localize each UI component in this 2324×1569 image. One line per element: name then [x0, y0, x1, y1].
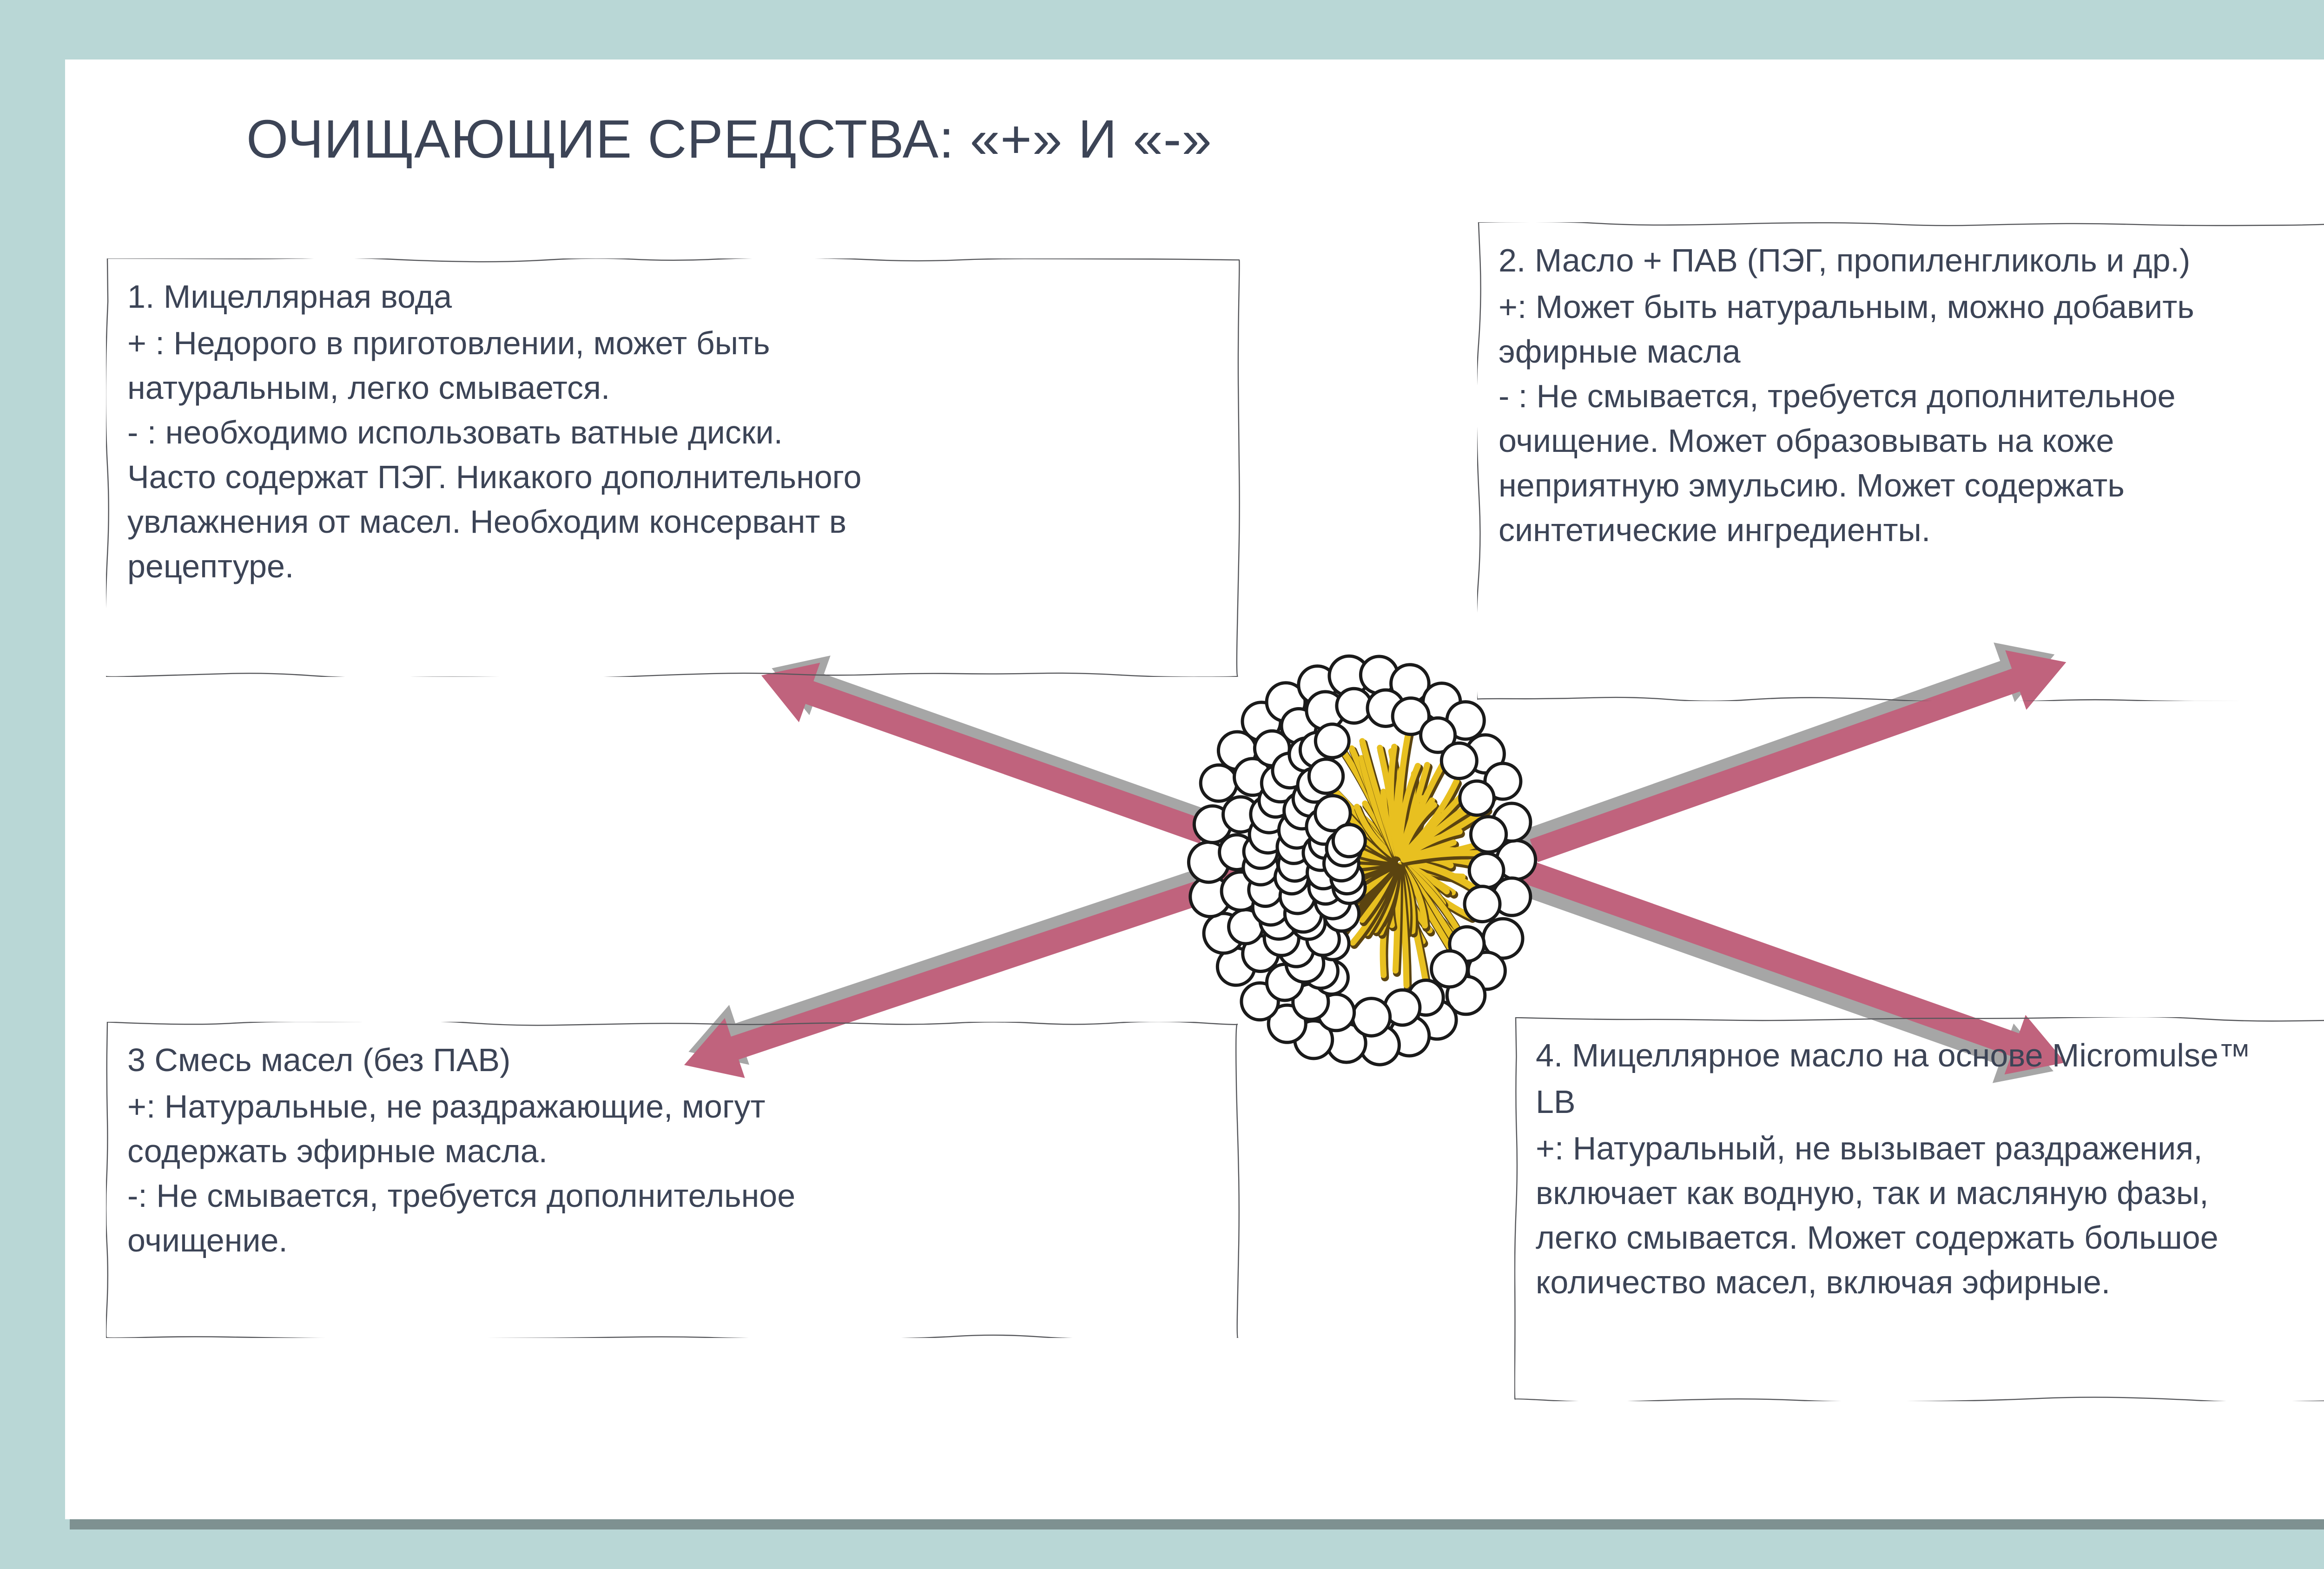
note-box-1[interactable]: 1. Мицеллярная вода + : Недорого в приго… — [106, 258, 1240, 677]
note-box-2-line-2: - : Не смывается, требуется дополнительн… — [1499, 374, 2324, 418]
slide-card-shadow — [70, 1519, 2324, 1529]
note-box-1-line-2: - : необходимо использовать ватные диски… — [127, 410, 1221, 455]
note-box-4-line-2: легко смывается. Может содержать большое — [1536, 1215, 2324, 1260]
note-box-1-line-3: Часто содержат ПЭГ. Никакого дополнитель… — [127, 455, 1221, 499]
note-box-1-line-5: рецептуре. — [127, 544, 1221, 589]
note-box-3-line-0: +: Натуральные, не раздражающие, могут — [127, 1084, 1221, 1129]
note-box-2[interactable]: 2. Масло + ПАВ (ПЭГ, пропиленгликоль и д… — [1477, 222, 2324, 701]
note-box-2-line-5: синтетические ингредиенты. — [1499, 508, 2324, 552]
note-box-4-line-3: количество масел, включая эфирные. — [1536, 1260, 2324, 1304]
note-box-4-title-line2: LB — [1536, 1079, 2324, 1124]
note-box-4[interactable]: 4. Мицеллярное масло на основе Micromuls… — [1514, 1017, 2324, 1401]
note-box-1-line-0: + : Недорого в приготовлении, может быть — [127, 321, 1221, 365]
note-box-3[interactable]: 3 Смесь масел (без ПАВ) +: Натуральные, … — [106, 1022, 1240, 1338]
note-box-2-line-3: очищение. Может образовывать на коже — [1499, 418, 2324, 463]
note-box-2-line-1: эфирные масла — [1499, 329, 2324, 374]
note-box-4-line-1: включает как водную, так и масляную фазы… — [1536, 1171, 2324, 1215]
note-box-2-line-4: неприятную эмульсию. Может содержать — [1499, 463, 2324, 508]
note-box-1-line-1: натуральным, легко смывается. — [127, 365, 1221, 410]
note-box-3-line-3: очищение. — [127, 1218, 1221, 1263]
note-box-3-line-2: -: Не смывается, требуется дополнительно… — [127, 1173, 1221, 1218]
slide-background: ОЧИЩАЮЩИЕ СРЕДСТВА: «+» И «-» — [0, 0, 2324, 1569]
note-box-2-title: 2. Масло + ПАВ (ПЭГ, пропиленгликоль и д… — [1499, 238, 2324, 283]
note-box-4-line-0: +: Натуральный, не вызывает раздражения, — [1536, 1126, 2324, 1171]
note-box-4-title: 4. Мицеллярное масло на основе Micromuls… — [1536, 1033, 2324, 1078]
note-box-1-line-4: увлажнения от масел. Необходим консерван… — [127, 499, 1221, 544]
micelle-diagram — [1176, 651, 1571, 1069]
note-box-2-line-0: +: Может быть натуральным, можно добавит… — [1499, 285, 2324, 329]
note-box-3-title: 3 Смесь масел (без ПАВ) — [127, 1038, 1221, 1082]
page-title: ОЧИЩАЮЩИЕ СРЕДСТВА: «+» И «-» — [246, 108, 1212, 170]
note-box-3-line-1: содержать эфирные масла. — [127, 1129, 1221, 1173]
note-box-1-title: 1. Мицеллярная вода — [127, 274, 1221, 319]
